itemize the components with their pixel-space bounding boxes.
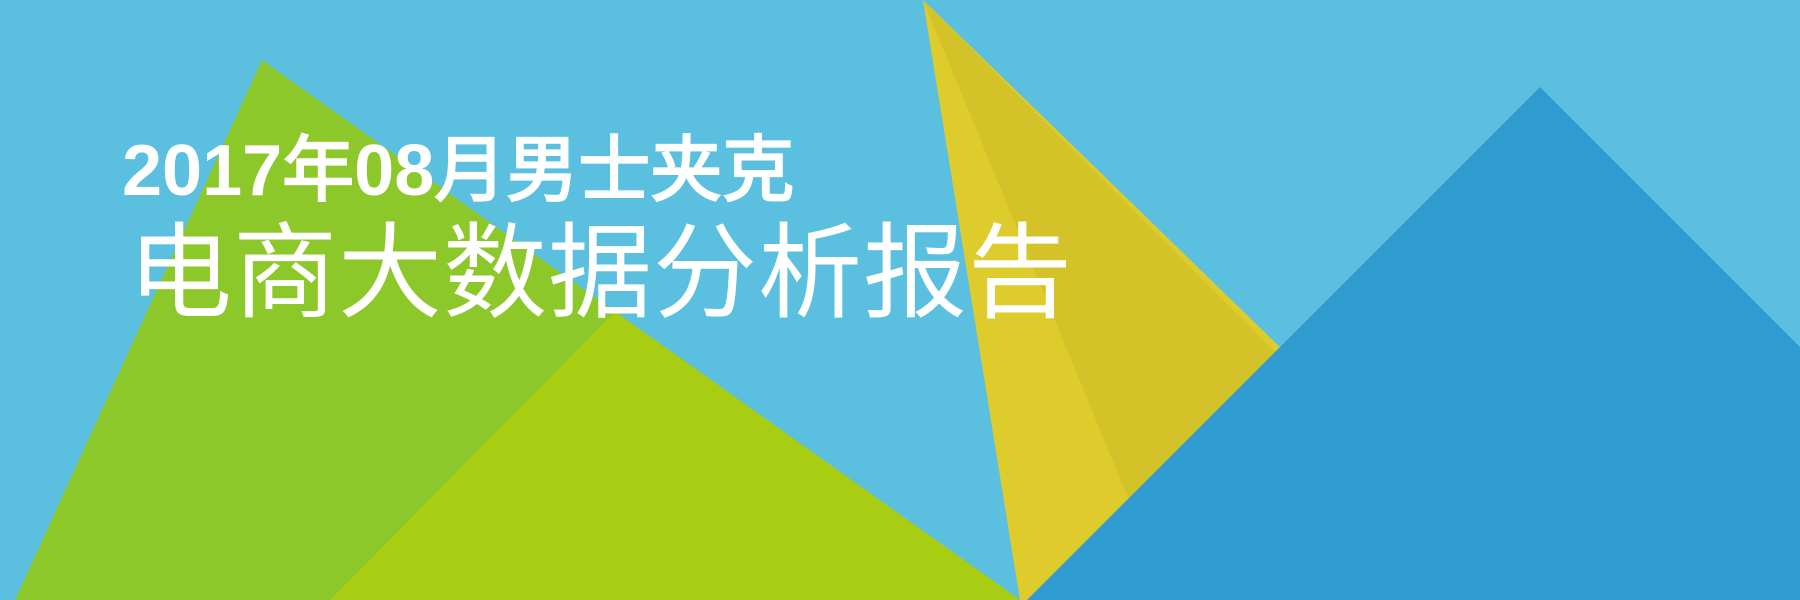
background-artwork bbox=[0, 0, 1800, 600]
report-banner: 2017年08月男士夹克 电商大数据分析报告 bbox=[0, 0, 1800, 600]
